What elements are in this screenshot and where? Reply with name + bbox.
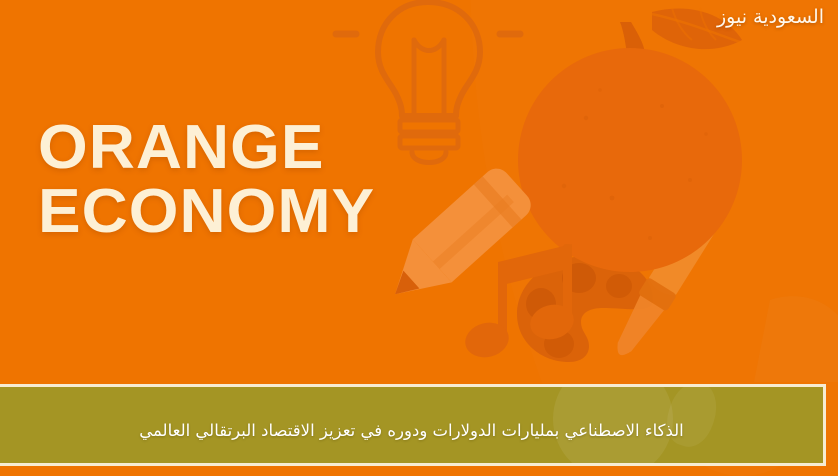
promo-image: السعودية نيوز ORANGE ECONOMY الذكاء الاص… bbox=[0, 0, 838, 476]
caption-bar: الذكاء الاصطناعي بمليارات الدولارات ودور… bbox=[0, 384, 826, 466]
headline-line-2: ECONOMY bbox=[38, 182, 375, 242]
headline-line-1: ORANGE bbox=[38, 118, 375, 178]
page-title: ORANGE ECONOMY bbox=[38, 118, 365, 241]
caption-text: الذكاء الاصطناعي بمليارات الدولارات ودور… bbox=[115, 420, 707, 442]
site-watermark: السعودية نيوز bbox=[717, 6, 824, 28]
